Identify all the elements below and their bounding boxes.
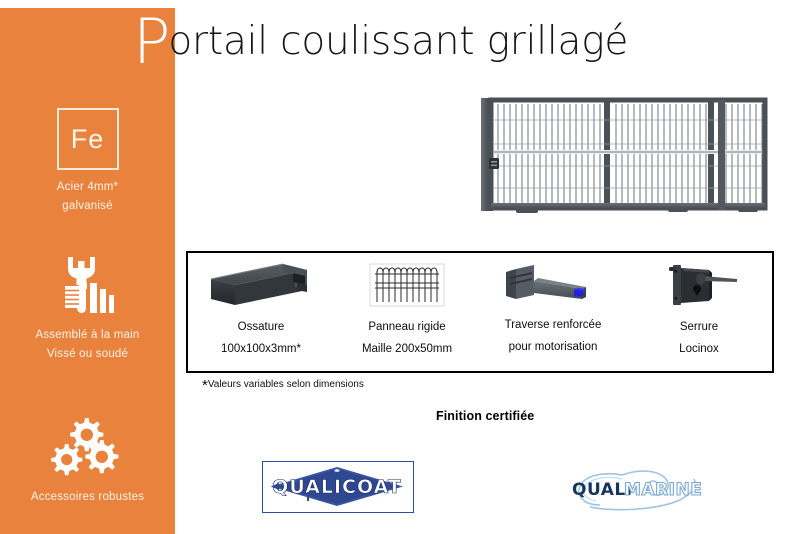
certification-heading: Finition certifiée (436, 409, 534, 423)
fe-square-icon: Fe (0, 100, 175, 178)
page-title-initial: P (133, 5, 168, 78)
frame-profile-icon (188, 259, 334, 311)
sidebar-feature-accessories: Accessoires robustes (0, 410, 175, 507)
sidebar-feature-accessories-line1: Accessoires robustes (0, 488, 175, 507)
hand-wrench-icon (0, 248, 175, 326)
component-serrure: Serrure Locinox (626, 253, 772, 371)
page-title: Portail coulissant grillagé (133, 22, 628, 61)
fe-square-icon-label: Fe (57, 108, 119, 170)
component-traverse-subtitle: pour motorisation (509, 340, 598, 354)
footnote: *Valeurs variables selon dimensions (202, 379, 364, 390)
component-ossature-title: Ossature (238, 320, 285, 334)
component-traverse-title: Traverse renforcée (505, 318, 602, 332)
sidebar-feature-steel: Fe Acier 4mm* galvanisé (0, 100, 175, 216)
poster-page: Fe Acier 4mm* galvanisé (0, 0, 800, 534)
components-panel: Ossature 100x100x3mm* (186, 251, 774, 373)
sidebar-feature-steel-line2: galvanisé (0, 197, 175, 216)
rigid-panel-icon (334, 259, 480, 311)
svg-text:QUALICOAT: QUALICOAT (272, 476, 402, 498)
sidebar-feature-assembly: Assemblé à la main Vissé ou soudé (0, 248, 175, 364)
component-serrure-title: Serrure (680, 320, 718, 334)
component-traverse: Traverse renforcée pour motorisation (480, 253, 626, 371)
footnote-asterisk: * (202, 377, 208, 394)
component-panneau-subtitle: Maille 200x50mm (362, 342, 452, 356)
footnote-text: Valeurs variables selon dimensions (208, 379, 364, 390)
sidebar-feature-assembly-line1: Assemblé à la main (0, 326, 175, 345)
component-ossature: Ossature 100x100x3mm* (188, 253, 334, 371)
reinforced-crossbar-icon (480, 259, 626, 311)
gears-icon (0, 410, 175, 488)
sidebar-feature-assembly-line2: Vissé ou soudé (0, 345, 175, 364)
svg-text:MARINE: MARINE (624, 480, 702, 500)
lock-icon (626, 259, 772, 311)
component-panneau-title: Panneau rigide (368, 320, 445, 334)
qualicoat-logo: QUALICOAT (262, 461, 414, 513)
sliding-gate-photo (472, 88, 777, 221)
component-serrure-subtitle: Locinox (679, 342, 719, 356)
page-title-rest: ortail coulissant grillagé (168, 19, 628, 64)
sidebar: Fe Acier 4mm* galvanisé (0, 8, 175, 534)
qualimarine-logo: QUALI MARINE (560, 461, 710, 513)
component-panneau: Panneau rigide Maille 200x50mm (334, 253, 480, 371)
component-ossature-subtitle: 100x100x3mm* (221, 342, 301, 356)
sidebar-feature-steel-line1: Acier 4mm* (0, 178, 175, 197)
